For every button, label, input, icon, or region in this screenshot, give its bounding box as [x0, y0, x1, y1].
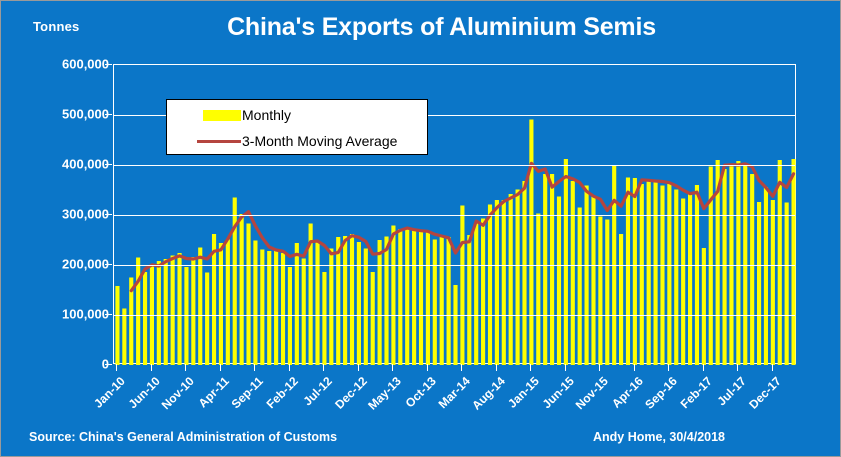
- bar: [460, 206, 464, 366]
- source-note: Source: China's General Administration o…: [29, 430, 337, 444]
- bar: [322, 272, 326, 365]
- y-axis: 0100,000200,000300,000400,000500,000600,…: [1, 64, 109, 364]
- chart-legend: Monthly 3-Month Moving Average: [166, 99, 428, 155]
- x-axis-tick-mark: [530, 364, 531, 371]
- bar: [343, 236, 347, 365]
- bar: [219, 243, 223, 365]
- bar: [157, 261, 161, 365]
- y-axis-tick-label: 100,000: [13, 307, 109, 322]
- y-axis-tick-mark: [105, 314, 112, 315]
- bar: [177, 253, 181, 365]
- bar: [260, 250, 264, 366]
- bar: [591, 196, 595, 366]
- bar: [398, 229, 402, 365]
- legend-label-monthly: Monthly: [241, 107, 291, 123]
- bar: [536, 214, 540, 366]
- bar: [226, 240, 230, 366]
- y-axis-tick-mark: [105, 64, 112, 65]
- x-axis-tick-mark: [668, 364, 669, 371]
- bar: [619, 234, 623, 365]
- bar: [433, 240, 437, 366]
- bar: [495, 200, 499, 365]
- bar: [453, 285, 457, 365]
- bar: [350, 234, 354, 365]
- bar: [722, 169, 726, 365]
- x-axis-tick-mark: [461, 364, 462, 371]
- y-axis-tick-label: 300,000: [13, 207, 109, 222]
- bar: [647, 179, 651, 365]
- bar: [419, 232, 423, 365]
- legend-bar-swatch-icon: [167, 110, 241, 121]
- bar: [336, 237, 340, 365]
- bar: [557, 197, 561, 366]
- legend-line-swatch-icon: [167, 140, 241, 143]
- bar: [764, 187, 768, 365]
- x-axis-tick-mark: [634, 364, 635, 371]
- bar: [467, 235, 471, 365]
- bar: [633, 178, 637, 365]
- bar: [578, 208, 582, 366]
- footer: Source: China's General Administration o…: [1, 422, 841, 456]
- bar: [522, 181, 526, 365]
- bar: [205, 273, 209, 366]
- bar: [757, 202, 761, 365]
- bar: [785, 203, 789, 366]
- bar: [695, 185, 699, 365]
- bar: [778, 160, 782, 365]
- bar: [143, 272, 147, 365]
- bar: [640, 184, 644, 365]
- bar: [315, 241, 319, 365]
- bar: [750, 174, 754, 365]
- bar: [122, 309, 126, 366]
- x-axis-tick-mark: [565, 364, 566, 371]
- x-axis-tick-mark: [427, 364, 428, 371]
- y-axis-tick-label: 600,000: [13, 57, 109, 72]
- x-axis-tick-mark: [151, 364, 152, 371]
- gridline: [114, 215, 795, 216]
- bar: [667, 183, 671, 366]
- bar: [378, 240, 382, 365]
- y-axis-tick-mark: [105, 114, 112, 115]
- x-axis-tick-mark: [737, 364, 738, 371]
- bar: [543, 174, 547, 365]
- bar: [447, 237, 451, 365]
- bar: [529, 120, 533, 366]
- x-axis-tick-mark: [254, 364, 255, 371]
- bar: [384, 237, 388, 366]
- gridline: [114, 165, 795, 166]
- bar: [253, 241, 257, 366]
- x-axis-tick-mark: [772, 364, 773, 371]
- bar: [281, 253, 285, 365]
- x-axis-tick-mark: [599, 364, 600, 371]
- gridline: [114, 315, 795, 316]
- legend-label-moving-average: 3-Month Moving Average: [241, 133, 397, 149]
- bar: [371, 272, 375, 365]
- bar: [564, 159, 568, 365]
- x-axis-tick-mark: [703, 364, 704, 371]
- bar: [502, 200, 506, 365]
- bar: [246, 224, 250, 366]
- y-axis-tick-label: 200,000: [13, 257, 109, 272]
- x-axis-tick-mark: [116, 364, 117, 371]
- chart-title: China's Exports of Aluminium Semis: [1, 13, 841, 42]
- x-axis-tick-mark: [185, 364, 186, 371]
- bar: [550, 174, 554, 365]
- bar: [171, 256, 175, 366]
- credit-note: Andy Home, 30/4/2018: [593, 430, 725, 444]
- bar: [191, 257, 195, 365]
- bar: [791, 159, 795, 365]
- bar: [405, 230, 409, 366]
- bar: [267, 251, 271, 365]
- bar: [164, 259, 168, 365]
- bar: [585, 186, 589, 366]
- bar: [626, 178, 630, 366]
- bar: [736, 161, 740, 365]
- bar: [681, 199, 685, 366]
- gridline: [114, 265, 795, 266]
- chart-root: Tonnes China's Exports of Aluminium Semi…: [0, 0, 841, 457]
- x-axis-tick-mark: [392, 364, 393, 371]
- y-axis-tick-mark: [105, 214, 112, 215]
- bar: [660, 186, 664, 366]
- bar: [481, 219, 485, 366]
- bar: [357, 242, 361, 365]
- bar: [474, 223, 478, 366]
- y-axis-tick-label: 500,000: [13, 107, 109, 122]
- legend-item-monthly: Monthly: [167, 102, 429, 128]
- bar: [288, 267, 292, 365]
- x-axis: Jan-10Jun-10Nov-10Apr-11Sep-11Feb-12Jul-…: [113, 364, 796, 424]
- bar: [598, 217, 602, 366]
- y-axis-tick-mark: [105, 164, 112, 165]
- bar: [240, 214, 244, 365]
- x-axis-tick-mark: [289, 364, 290, 371]
- bar: [302, 259, 306, 366]
- y-axis-tick-mark: [105, 364, 112, 365]
- bar: [488, 205, 492, 366]
- bar: [654, 180, 658, 365]
- bar: [605, 220, 609, 366]
- bar: [412, 231, 416, 366]
- bar: [115, 286, 119, 365]
- x-axis-tick-mark: [496, 364, 497, 371]
- x-axis-tick-mark: [220, 364, 221, 371]
- bar: [688, 193, 692, 365]
- bar: [391, 226, 395, 366]
- y-axis-tick-label: 0: [13, 357, 109, 372]
- bar: [571, 181, 575, 365]
- bar: [295, 243, 299, 365]
- x-axis-tick-mark: [323, 364, 324, 371]
- bar: [184, 267, 188, 365]
- bar: [509, 194, 513, 365]
- y-axis-tick-mark: [105, 264, 112, 265]
- bar: [274, 250, 278, 366]
- legend-item-moving-average: 3-Month Moving Average: [167, 128, 429, 154]
- y-axis-tick-label: 400,000: [13, 157, 109, 172]
- bar: [136, 258, 140, 366]
- bar: [771, 200, 775, 365]
- x-axis-tick-mark: [358, 364, 359, 371]
- bar: [426, 232, 430, 366]
- bar: [440, 237, 444, 365]
